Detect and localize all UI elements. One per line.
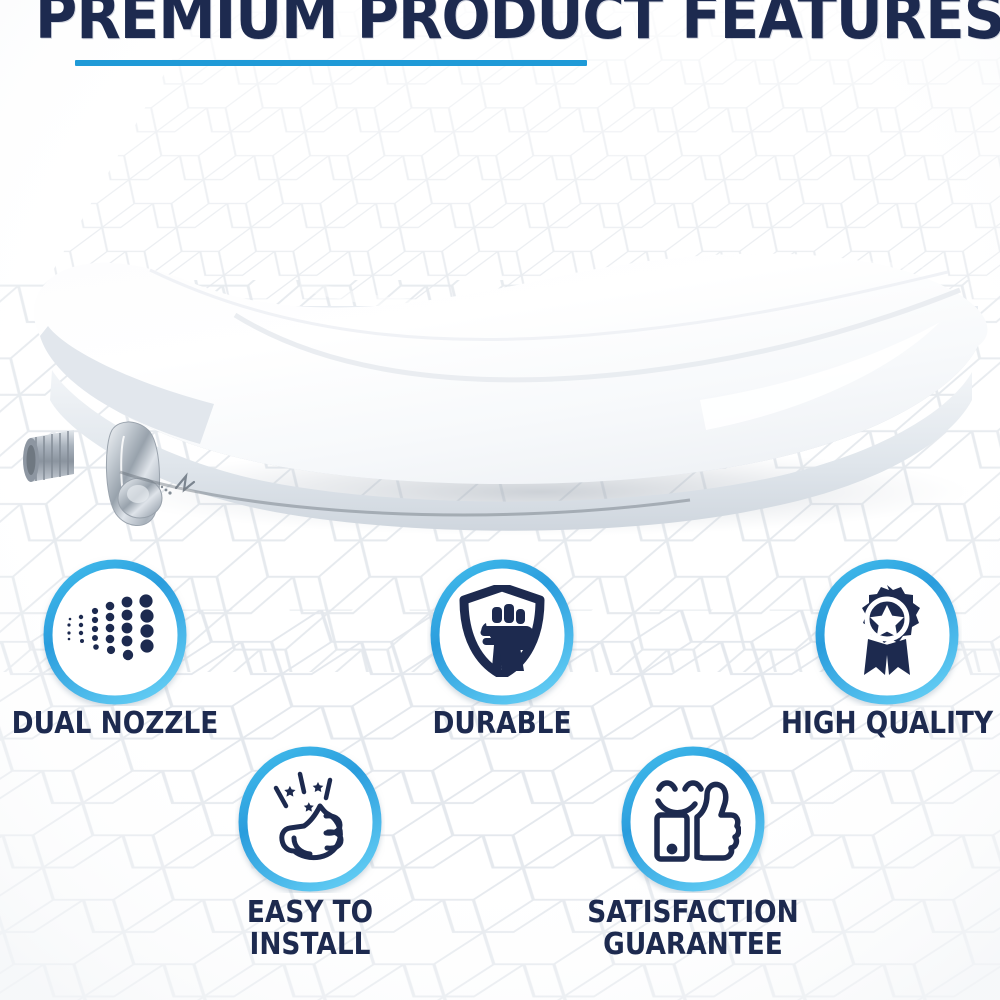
feature-label-durable: DURABLE [352, 708, 651, 740]
award-ribbon-star-icon [812, 556, 962, 706]
shield-fist-icon [427, 556, 577, 706]
title-underline [75, 60, 587, 66]
feature-label-high-quality: HIGH QUALITY [737, 708, 1000, 740]
water-inlet-fitting [23, 430, 74, 482]
product-image [0, 100, 1000, 540]
feature-badge-satisfaction-guarantee: SATISFACTION GUARANTEE [618, 743, 768, 893]
feature-label-easy-install: EASY TO INSTALL [160, 897, 459, 962]
feature-badge-high-quality: HIGH QUALITY [812, 556, 962, 706]
feature-label-satisfaction-guarantee: SATISFACTION GUARANTEE [543, 897, 842, 962]
snapping-fingers-icon [235, 743, 385, 893]
chrome-control-lever [106, 422, 162, 526]
header: PREMIUM PRODUCT FEATURES [0, 0, 1000, 80]
feature-badge-dual-nozzle: DUAL NOZZLE [40, 556, 190, 706]
spray-nozzle-dots-icon [40, 556, 190, 706]
feature-label-dual-nozzle: DUAL NOZZLE [0, 708, 265, 740]
thumbs-up-smiley-icon [618, 743, 768, 893]
page-title: PREMIUM PRODUCT FEATURES [35, 0, 965, 48]
feature-badge-easy-install: EASY TO INSTALL [235, 743, 385, 893]
feature-badge-durable: DURABLE [427, 556, 577, 706]
